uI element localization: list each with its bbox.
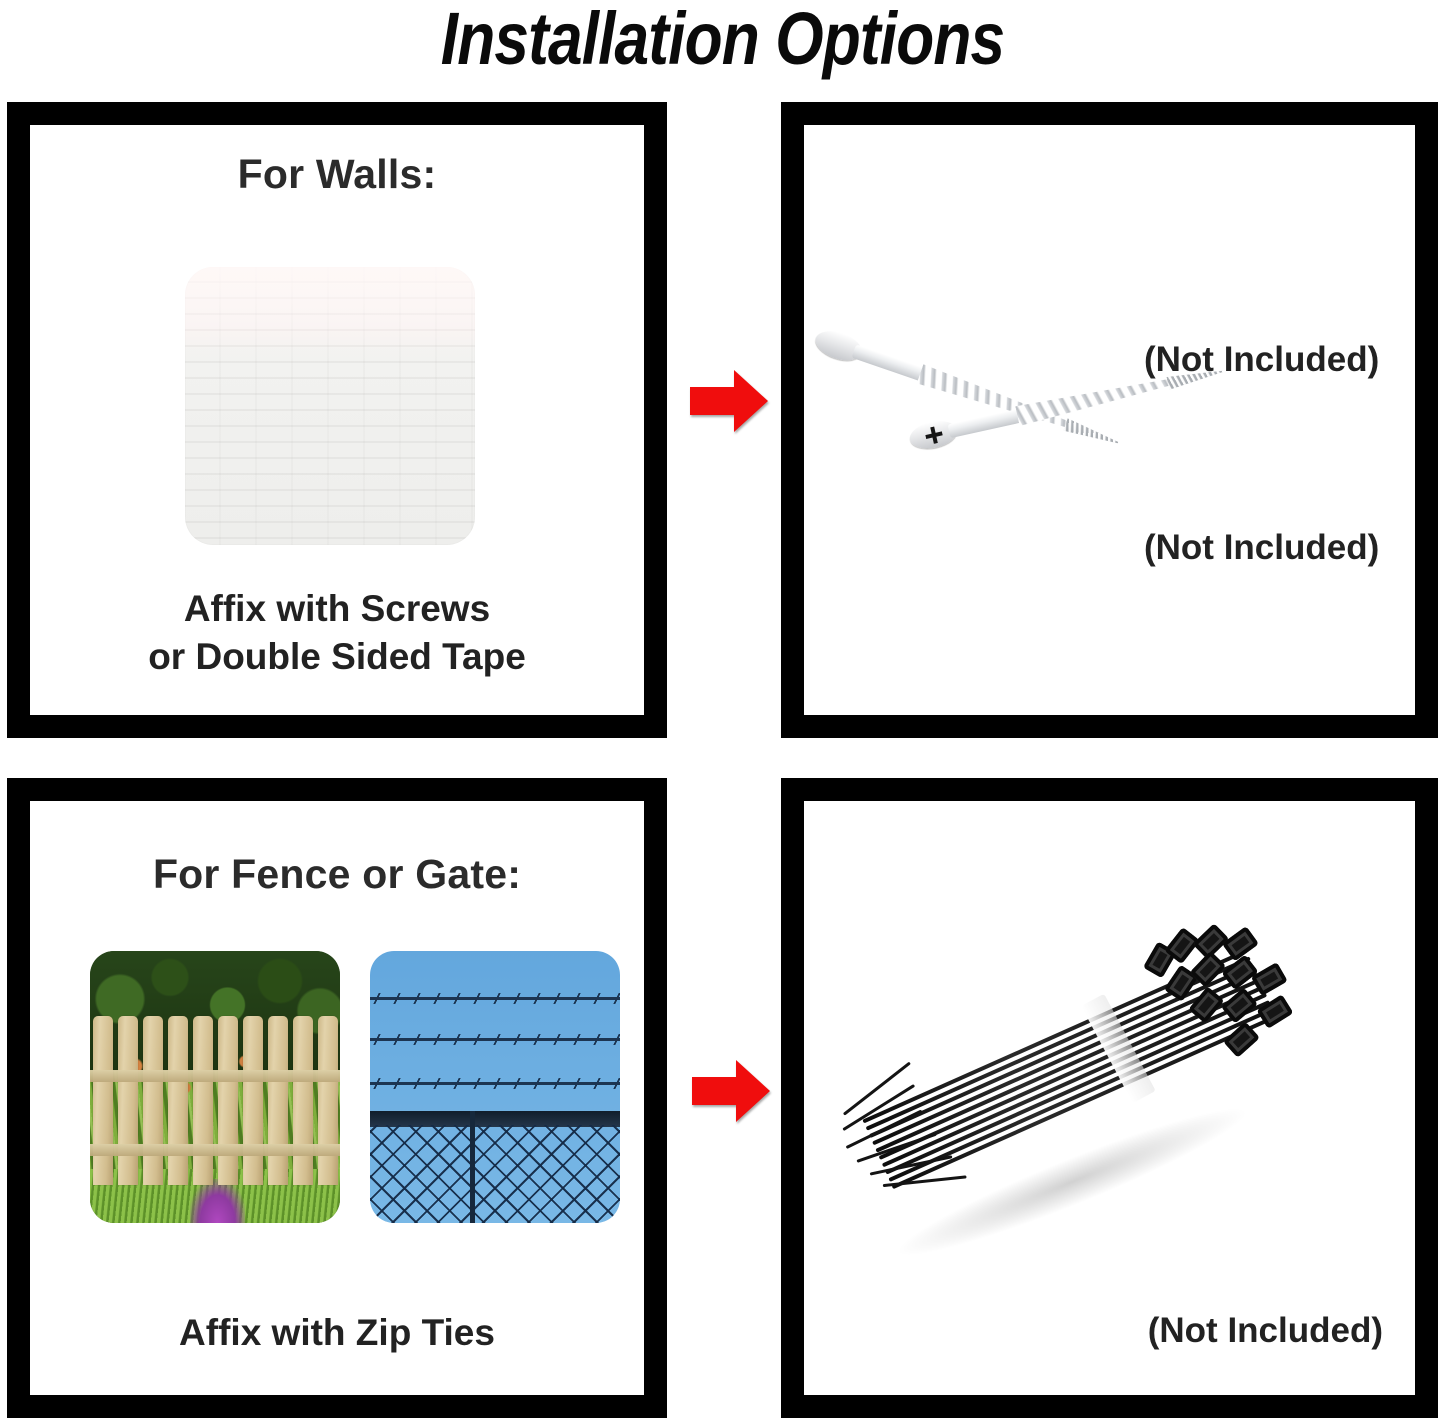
picket-fence-image — [90, 951, 340, 1223]
chainlink-post — [470, 1111, 475, 1223]
barb-spikes — [370, 1078, 620, 1089]
white-brick-wall-image — [185, 267, 475, 545]
screws-not-included-note: (Not Included) — [1144, 528, 1379, 568]
barbed-wire-2 — [370, 1038, 620, 1041]
phillips-cross-icon — [924, 425, 944, 445]
zip-tie-bundle-image — [822, 897, 1342, 1317]
picket-rail-top — [90, 1070, 340, 1082]
panel-for-walls: For Walls: Affix with Screws or Double S… — [7, 102, 667, 738]
screw-tip-threads — [1063, 418, 1120, 449]
ziptie-heads — [1137, 900, 1323, 1100]
chain-link-fence-image — [370, 951, 620, 1223]
barb-spikes — [370, 993, 620, 1004]
panel-walls-heading: For Walls: — [30, 151, 644, 198]
right-arrow-icon — [690, 368, 768, 434]
screw-shank — [948, 408, 1027, 439]
panel-fence-heading: For Fence or Gate: — [30, 851, 644, 898]
picket-rail-bottom — [90, 1144, 340, 1156]
panel-wall-hardware: (Not Included) (Not Included) — [781, 102, 1438, 738]
picket-path — [190, 1179, 245, 1223]
panel-walls-caption: Affix with Screws or Double Sided Tape — [30, 585, 644, 681]
right-arrow-icon — [692, 1058, 770, 1124]
screw-shank — [852, 344, 930, 383]
page-title: Installation Options — [116, 0, 1330, 82]
barbed-wire-1 — [370, 997, 620, 1000]
screw-tip-threads — [1166, 365, 1223, 390]
panel-for-fence-or-gate: For Fence or Gate: — [7, 778, 667, 1418]
barbed-wire-3 — [370, 1082, 620, 1085]
panel-fence-caption: Affix with Zip Ties — [30, 1309, 644, 1357]
brick-highlight — [185, 267, 475, 545]
barb-spikes — [370, 1034, 620, 1045]
ziptie-not-included-note: (Not Included) — [1148, 1311, 1383, 1351]
picket-boards — [90, 1016, 340, 1185]
caption-line-2: or Double Sided Tape — [30, 633, 644, 681]
caption-line-1: Affix with Screws — [30, 585, 644, 633]
panel-fence-hardware: (Not Included) — [781, 778, 1438, 1418]
chainlink-mesh — [370, 1125, 620, 1223]
